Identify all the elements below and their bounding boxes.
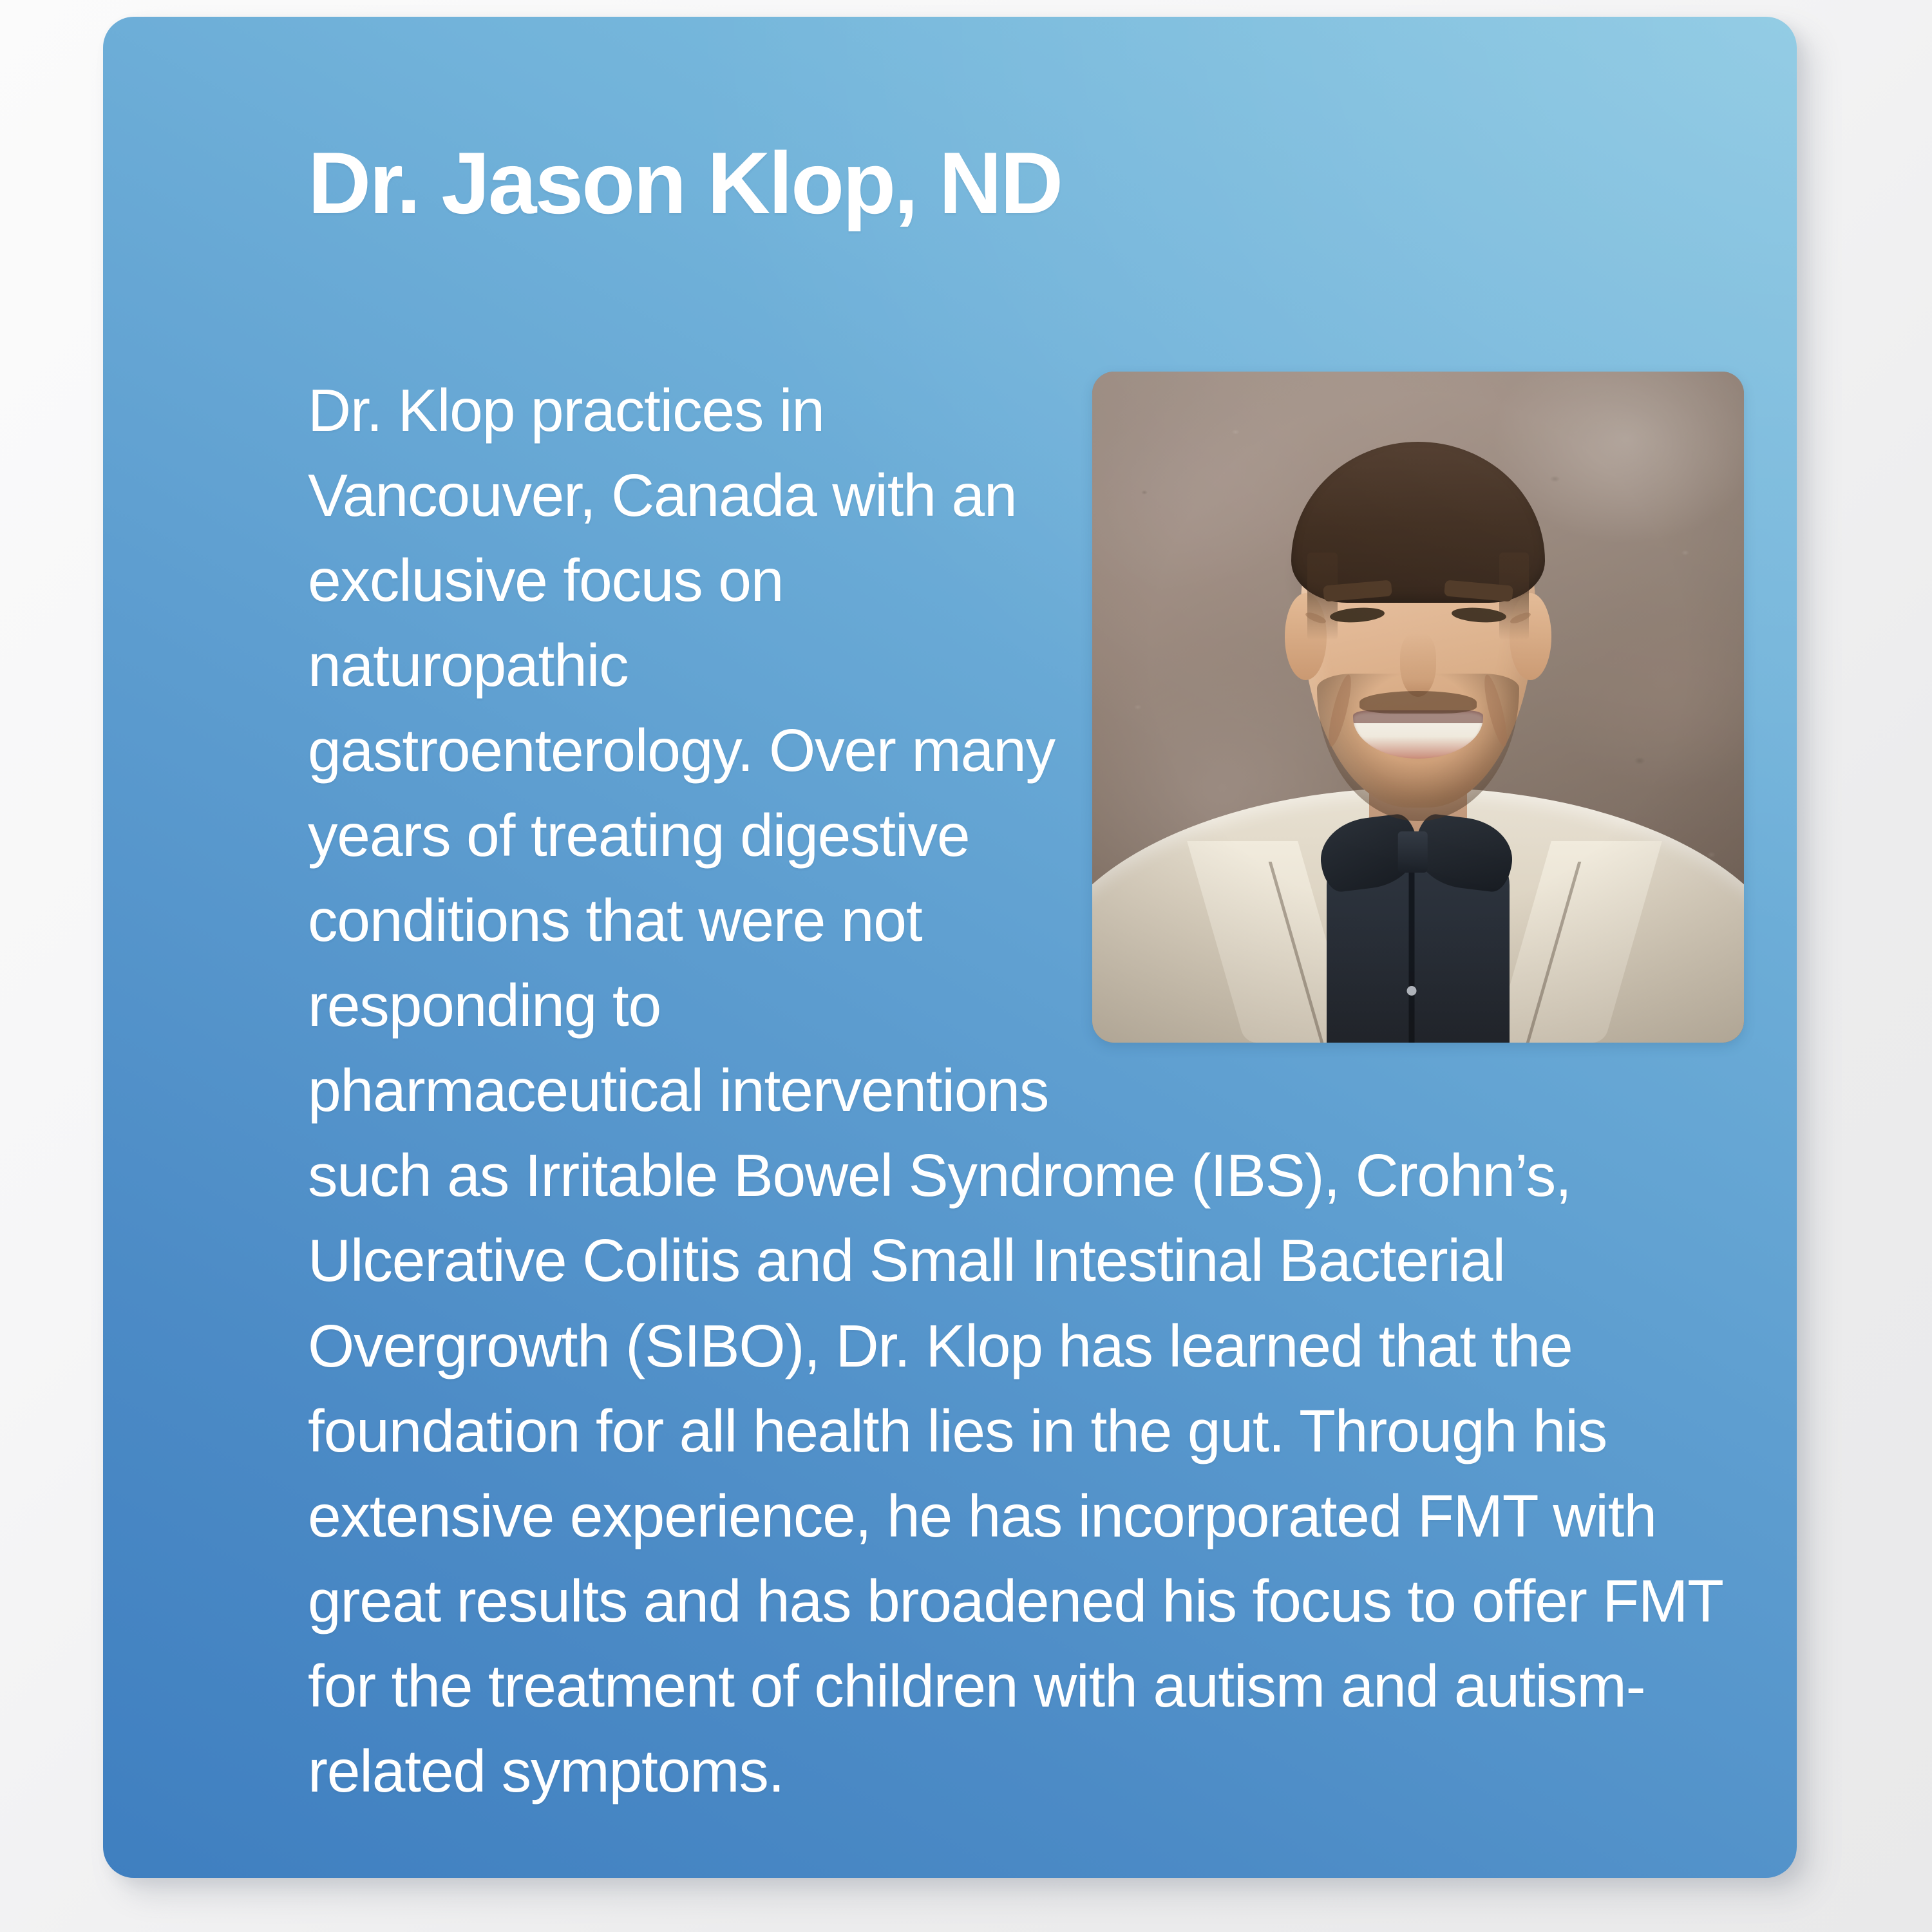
shirt-placket xyxy=(1408,855,1414,1043)
portrait-photo xyxy=(1092,372,1744,1043)
bow-tie-knot xyxy=(1398,831,1428,873)
bio-card: Dr. Jason Klop, ND xyxy=(103,17,1797,1878)
shirt-button xyxy=(1406,986,1416,996)
bio-text-block: Dr. Klop practices in Vancouver, Canada … xyxy=(308,368,1744,1814)
photo-subject xyxy=(1092,372,1744,1043)
moustache xyxy=(1359,691,1477,714)
page-title: Dr. Jason Klop, ND xyxy=(308,137,1061,229)
